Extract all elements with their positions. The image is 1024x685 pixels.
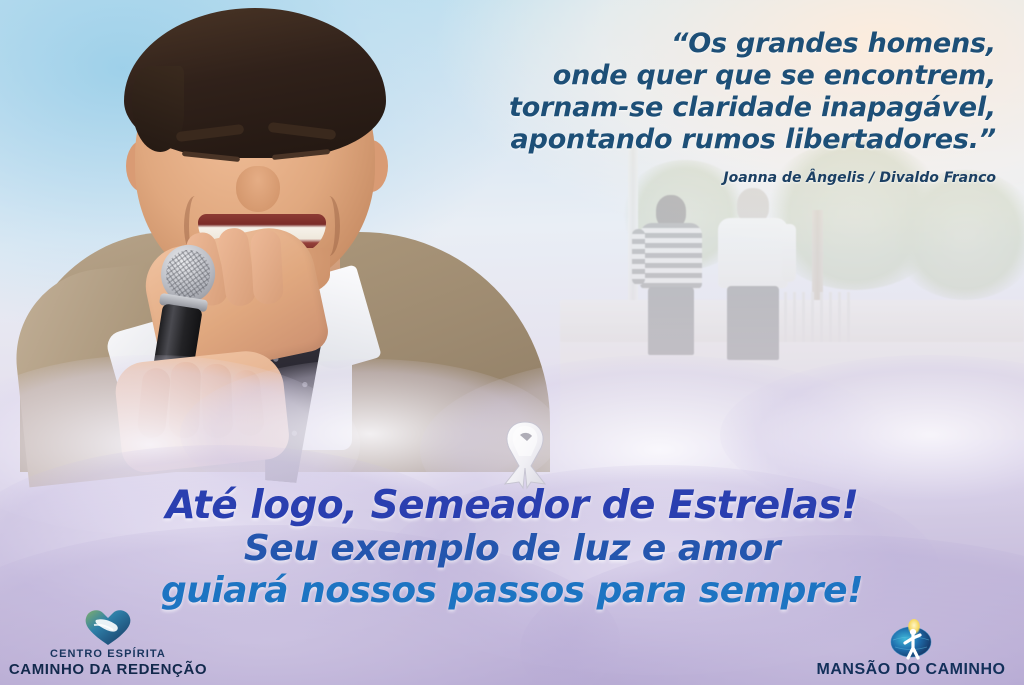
quote-text: “Os grandes homens, onde quer que se enc… [436, 28, 996, 156]
logo-left-line-1: CENTRO ESPÍRITA [8, 648, 208, 661]
headline: Até logo, Semeador de Estrelas! Seu exem… [0, 484, 1024, 612]
scene-figure-white [718, 188, 788, 360]
memorial-poster: “Os grandes homens, onde quer que se enc… [0, 0, 1024, 685]
quote-attribution: Joanna de Ângelis / Divaldo Franco [436, 170, 996, 186]
hands-heart-icon [8, 606, 208, 648]
background-scene [560, 150, 1024, 440]
headline-line-1: Até logo, Semeador de Estrelas! [0, 484, 1024, 528]
quote-line-1: “Os grandes homens, [436, 28, 996, 60]
logo-left-line-2: CAMINHO DA REDENÇÃO [8, 661, 208, 679]
quote-line-3: tornam-se claridade inapagável, [436, 92, 996, 124]
headline-line-2: Seu exemplo de luz e amor [0, 528, 1024, 570]
quote-line-4: apontando rumos libertadores.” [436, 124, 996, 156]
logo-right-line-1: MANSÃO DO CAMINHO [806, 660, 1016, 679]
scene-figure-striped [640, 195, 702, 355]
logo-mansao-do-caminho[interactable]: MANSÃO DO CAMINHO [806, 618, 1016, 679]
globe-figure-torch-icon [806, 618, 1016, 660]
quote-line-2: onde quer que se encontrem, [436, 60, 996, 92]
white-ribbon-icon [489, 408, 561, 490]
logo-centro-espirita[interactable]: CENTRO ESPÍRITA CAMINHO DA REDENÇÃO [8, 606, 208, 679]
